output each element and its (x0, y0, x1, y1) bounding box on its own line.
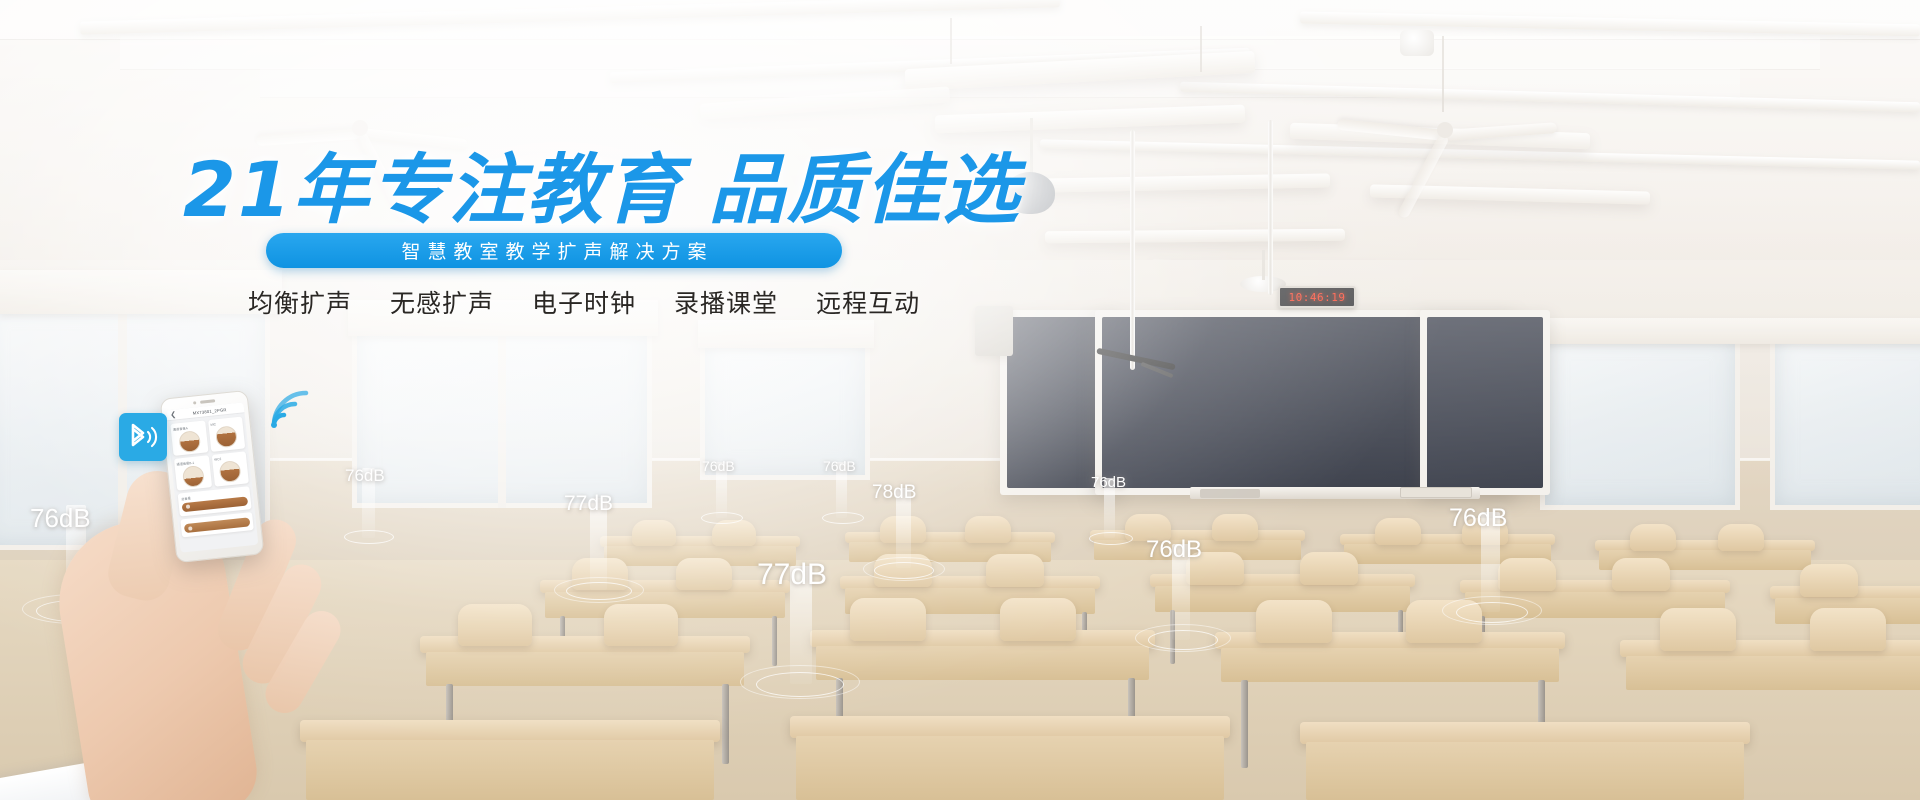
db-marker: 76dB (823, 458, 856, 474)
feature-item-1: 无感扩声 (390, 284, 494, 320)
db-marker: 78dB (872, 482, 916, 504)
feature-list: 均衡扩声 无感扩声 电子时钟 录播课堂 远程互动 (248, 284, 920, 320)
feature-item-2: 电子时钟 (532, 284, 636, 320)
volume-knob[interactable] (182, 465, 205, 488)
chevron-left-icon[interactable]: ❮ (170, 411, 177, 419)
page-title: 21年专注教育品质佳选 (183, 152, 1021, 229)
wifi-signal-icon (266, 385, 312, 431)
db-marker: 76dB (1146, 536, 1202, 564)
secondary-slider[interactable] (184, 517, 251, 533)
window-blind (698, 320, 874, 348)
window-right-2 (1770, 330, 1920, 510)
support-pole (1130, 130, 1135, 370)
phone-earpiece (193, 399, 215, 404)
support-pole (1268, 120, 1273, 295)
headline-main: 年专注教育 (293, 148, 683, 233)
volume-knob[interactable] (215, 425, 238, 448)
secondary-slider-card[interactable] (180, 512, 254, 538)
classroom-banner: 10:46:19 (0, 0, 1920, 800)
window-right-1 (1540, 330, 1740, 510)
db-marker: 76dB (1449, 504, 1507, 533)
db-marker: 77dB (757, 558, 827, 592)
feature-item-3: 录播课堂 (674, 284, 778, 320)
blackboard-wing-right (1420, 310, 1550, 495)
phone-screen: ❮ MX73801_2PGR 通道音量A MIC 通道音量B-1 (166, 402, 259, 552)
feature-item-4: 远程互动 (816, 284, 920, 320)
board-marker (1200, 489, 1260, 498)
db-marker: 76dB (345, 466, 385, 486)
bluetooth-icon (126, 422, 160, 452)
channel-card[interactable]: 通道音量B-1 (174, 455, 212, 490)
earpiece-speaker (200, 400, 215, 404)
channel-grid: 通道音量A MIC 通道音量B-1 MIC2 (170, 417, 249, 491)
db-marker: 76dB (30, 503, 91, 534)
db-marker: 77dB (564, 492, 613, 516)
channel-label: 通道音量B-1 (176, 458, 207, 466)
volume-knob[interactable] (219, 460, 242, 483)
board-tray-box (1400, 487, 1472, 498)
volume-knob[interactable] (178, 430, 201, 453)
master-volume-card[interactable]: 总音量 (178, 486, 252, 516)
digital-wall-clock: 10:46:19 (1278, 286, 1356, 308)
channel-card[interactable]: MIC (208, 417, 246, 452)
ceiling-mount (1400, 30, 1434, 56)
window-blind (1536, 318, 1920, 344)
front-camera-icon (193, 401, 196, 404)
ceiling-fan (1330, 108, 1560, 152)
smartphone-mockup[interactable]: ❮ MX73801_2PGR 通道音量A MIC 通道音量B-1 (160, 390, 265, 563)
db-marker: 76dB (702, 458, 735, 474)
subtitle-pill: 智慧教室教学扩声解决方案 (266, 233, 842, 268)
app-body: 通道音量A MIC 通道音量B-1 MIC2 (167, 413, 258, 552)
channel-card[interactable]: MIC2 (211, 451, 249, 486)
clock-time: 10:46:19 (1289, 291, 1346, 304)
channel-label: 通道音量A (173, 423, 204, 431)
db-marker: 76dB (1091, 474, 1126, 491)
subtitle-text: 智慧教室教学扩声解决方案 (394, 237, 713, 264)
headline-sub: 品质佳选 (709, 148, 1021, 233)
feature-item-0: 均衡扩声 (248, 284, 352, 320)
headline-years: 21 (183, 145, 293, 234)
channel-card[interactable]: 通道音量A (170, 420, 208, 455)
window-blind (0, 270, 282, 314)
bluetooth-badge (119, 413, 167, 461)
wall-control-panel (975, 306, 1013, 356)
